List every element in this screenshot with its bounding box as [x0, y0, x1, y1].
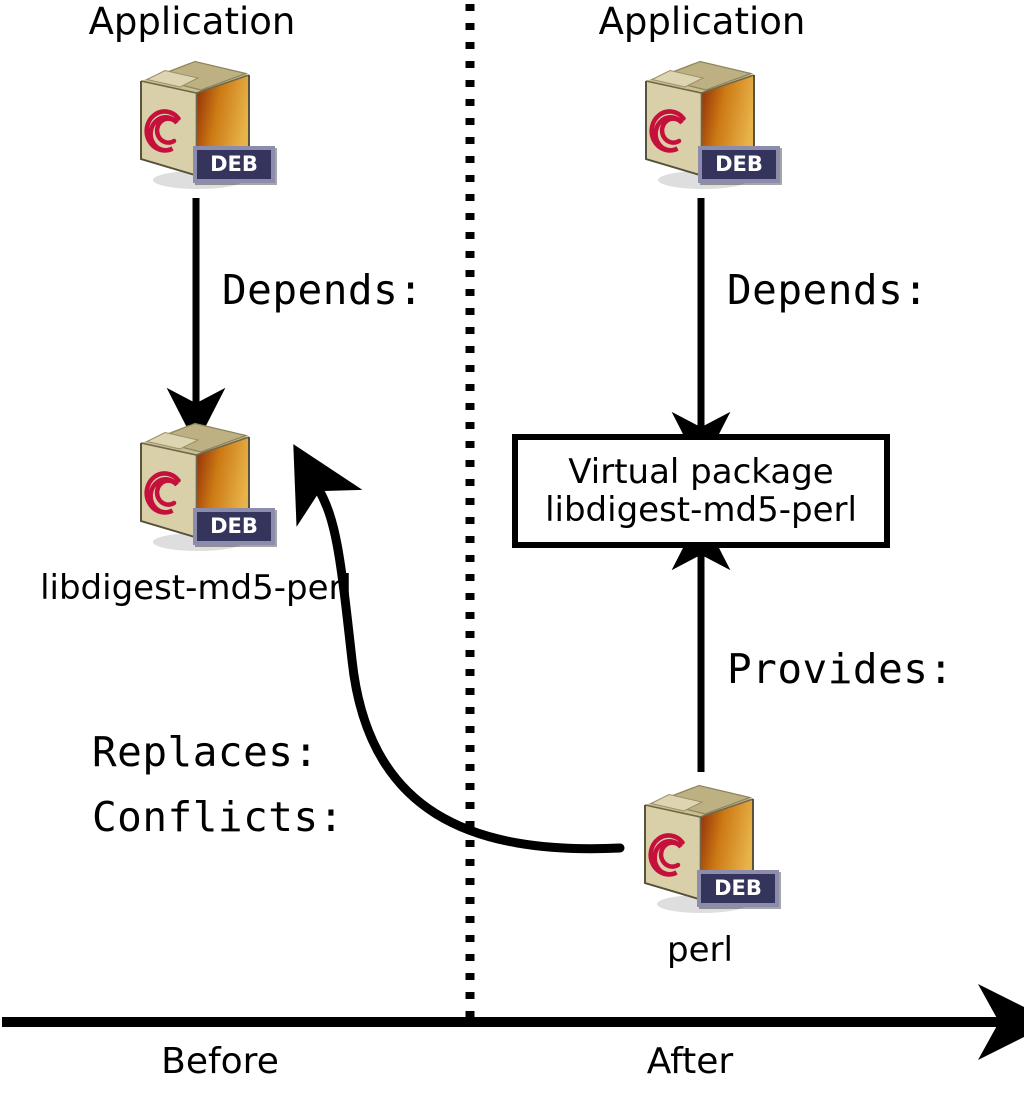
virtual-package-line1: Virtual package [568, 453, 833, 491]
axis-label-before: Before [90, 1043, 350, 1081]
relation-replaces: Replaces: [92, 728, 319, 776]
deb-badge-text: DEB [715, 154, 763, 175]
virtual-package-line2: libdigest-md5-perl [545, 491, 857, 529]
relation-depends-before: Depends: [222, 266, 423, 314]
axis-label-after: After [560, 1043, 820, 1081]
diagram-canvas: Application [0, 0, 1024, 1094]
relation-conflicts: Conflicts: [92, 793, 344, 841]
deb-badge-text: DEB [714, 878, 762, 899]
page-title-before-application: Application [42, 2, 342, 41]
deb-badge-text: DEB [210, 516, 258, 537]
deb-badge-app-before: DEB [193, 146, 275, 183]
relation-provides: Provides: [727, 645, 954, 693]
package-label-libdigest-md5-perl: libdigest-md5-perl [0, 570, 392, 606]
deb-badge-text: DEB [210, 154, 258, 175]
relation-depends-after: Depends: [727, 266, 928, 314]
page-title-after-application: Application [552, 2, 852, 41]
package-label-perl: perl [600, 932, 800, 968]
deb-badge-perl: DEB [697, 870, 779, 907]
deb-badge-app-after: DEB [698, 146, 780, 183]
deb-badge-libdigest-before: DEB [193, 508, 275, 545]
virtual-package-box: Virtual package libdigest-md5-perl [512, 434, 890, 548]
